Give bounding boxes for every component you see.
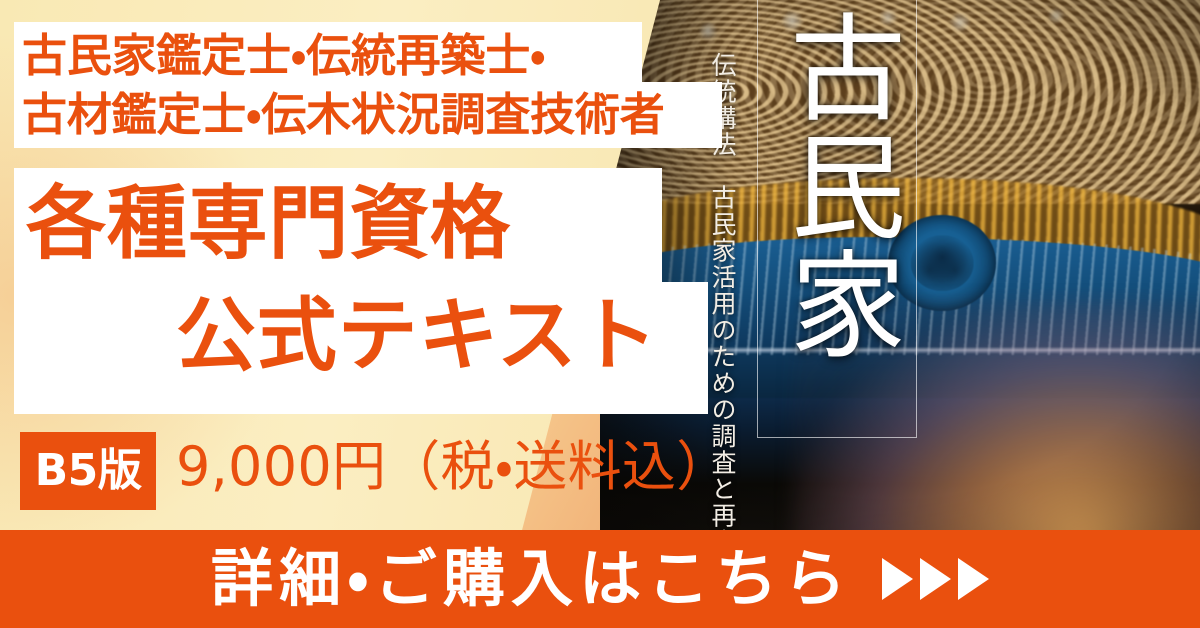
headline-line-2: 公式テキスト <box>176 296 658 376</box>
triangle-right-icon <box>920 558 951 600</box>
certification-line-2: 古材鑑定士・伝木状況調査技術者 <box>22 92 665 137</box>
cta-label: 詳細・ご購入はこちら <box>211 548 852 610</box>
format-badge: B5版 <box>20 432 156 510</box>
format-badge-label: B5版 <box>35 449 142 493</box>
promo-banner: 古民家 伝統構法 古民家活用のための調査と再生の 古民家鑑定士・伝統再築士・ 古… <box>0 0 1200 628</box>
cta-button[interactable]: 詳細・ご購入はこちら <box>0 530 1200 628</box>
triangle-right-icon <box>882 558 913 600</box>
cta-arrows <box>882 558 989 600</box>
price-label: 9,000円（税・送料込） <box>176 440 730 494</box>
book-cover-title: 古民家 <box>766 8 906 363</box>
certification-line-1: 古民家鑑定士・伝統再築士・ <box>22 33 545 78</box>
triangle-right-icon <box>958 558 989 600</box>
headline-line-1: 各種専門資格 <box>26 184 511 264</box>
